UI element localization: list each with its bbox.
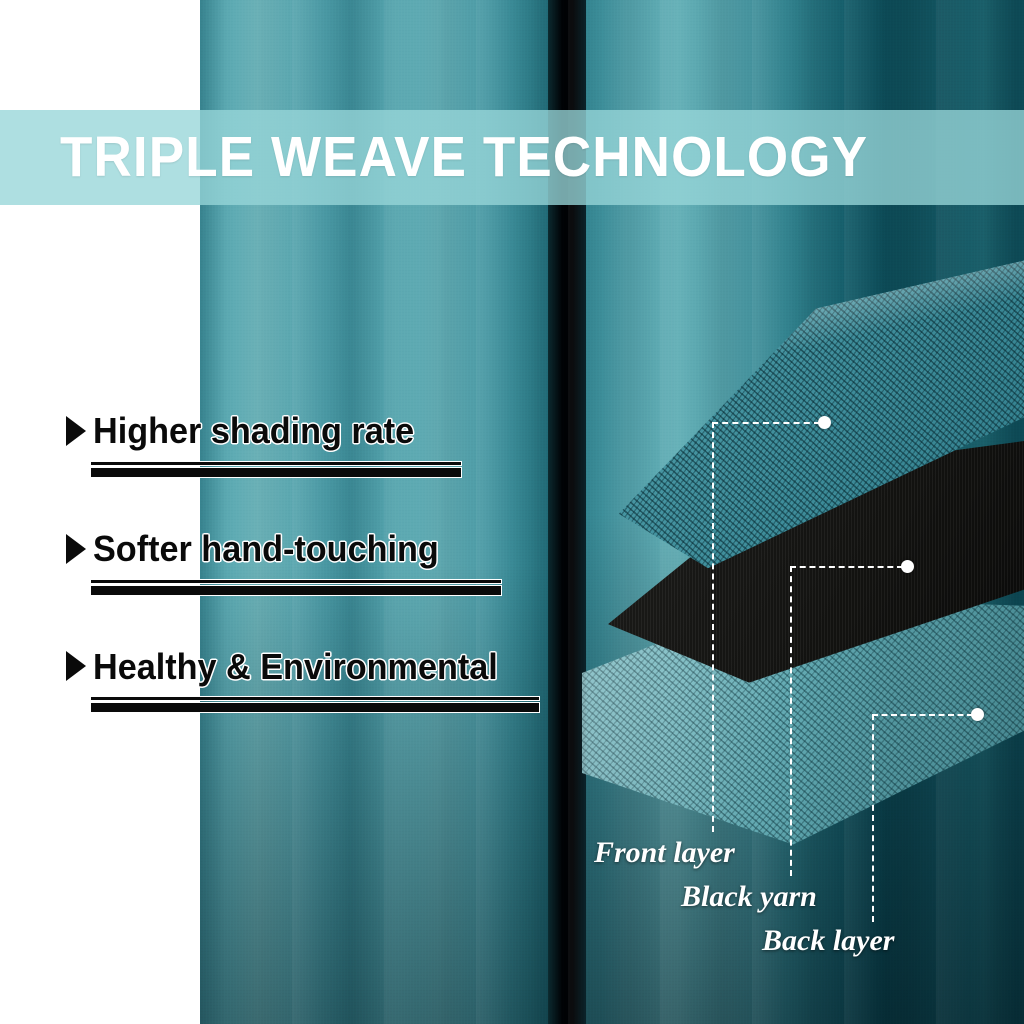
callout-line-black-yarn-vertical bbox=[790, 566, 792, 876]
diagram-callouts: Front layer Black yarn Back layer bbox=[0, 0, 1024, 1024]
callout-line-front-horizontal bbox=[712, 422, 820, 424]
callout-line-front-vertical bbox=[712, 422, 714, 832]
product-feature-image: TRIPLE WEAVE TECHNOLOGY Higher shading r… bbox=[0, 0, 1024, 1024]
layer-label-back: Back layer bbox=[762, 924, 894, 958]
layer-label-front: Front layer bbox=[594, 836, 735, 870]
callout-line-back-layer-horizontal bbox=[872, 714, 973, 716]
callout-line-back-layer-vertical bbox=[872, 714, 874, 922]
callout-line-black-yarn-horizontal bbox=[790, 566, 903, 568]
layer-label-black-yarn: Black yarn bbox=[681, 880, 817, 914]
